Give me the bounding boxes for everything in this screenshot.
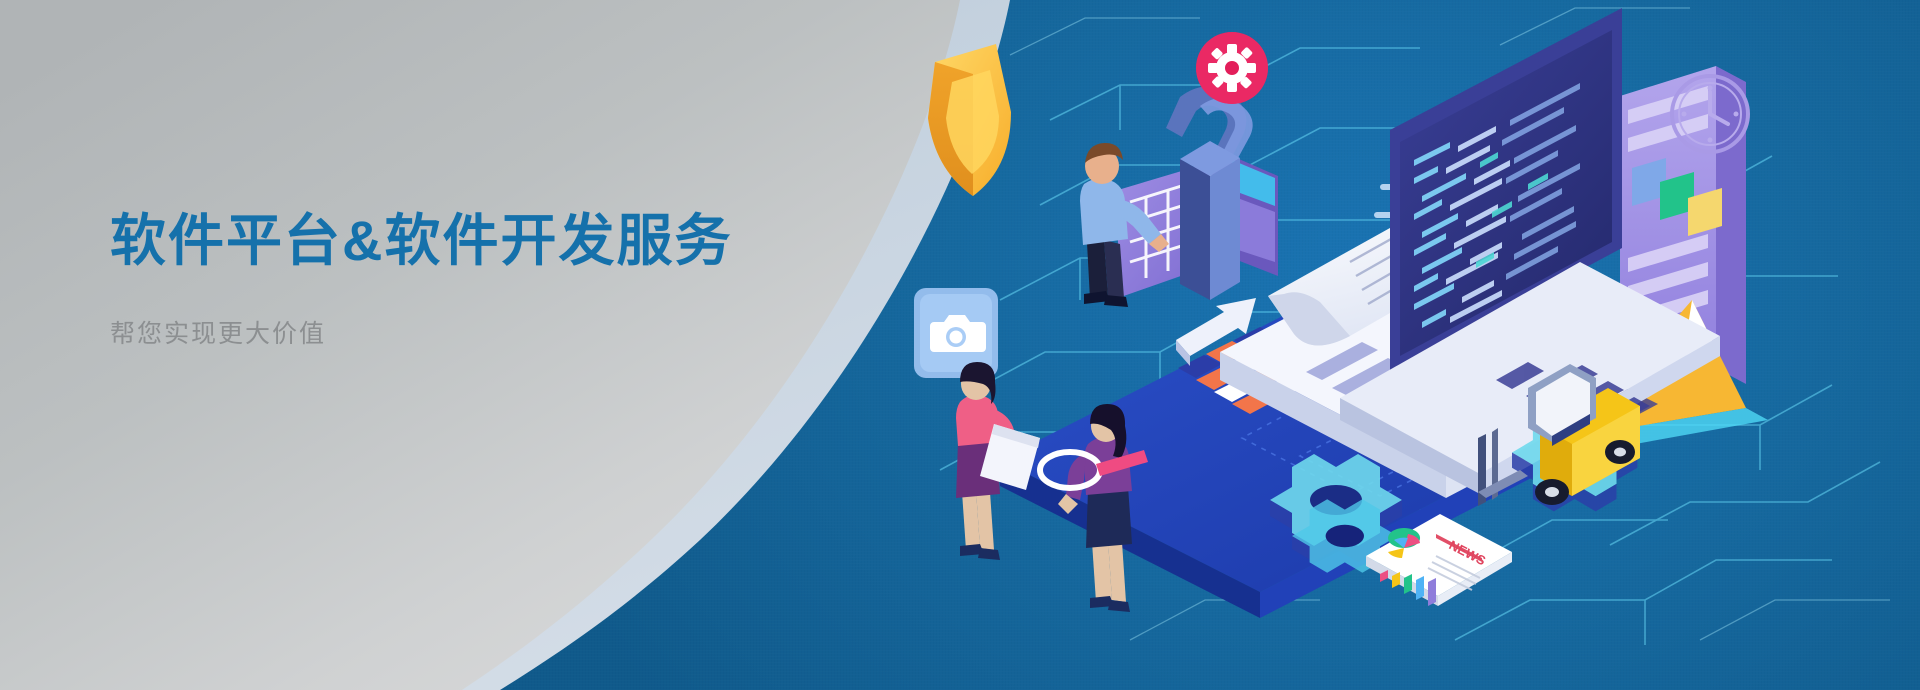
hero-banner: NEWS [0,0,1920,690]
page-subtitle: 帮您实现更大价值 [110,314,732,350]
isometric-illustration: NEWS [880,0,1920,690]
text-block: 软件平台&软件开发服务 帮您实现更大价值 [110,208,732,350]
shield-icon [928,44,1011,196]
page-title: 软件平台&软件开发服务 [110,208,732,274]
clock-icon [1672,76,1748,152]
analyst-figure [956,362,1040,560]
gear-badge-icon [1196,32,1268,104]
